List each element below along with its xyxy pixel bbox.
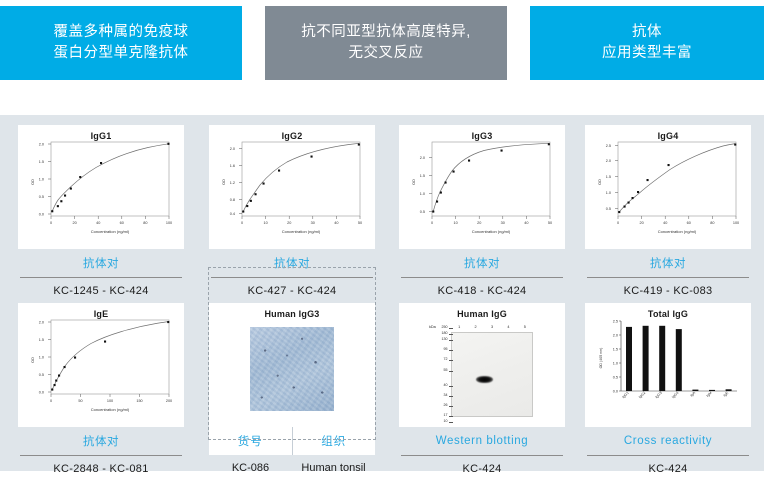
svg-text:2.5: 2.5 — [613, 320, 618, 324]
western-lane-1: 1 — [451, 325, 467, 332]
figure-title-ihc: Human IgG3 — [209, 309, 375, 319]
banner-application-line-1: 抗体 — [632, 22, 662, 43]
svg-text:2.0: 2.0 — [606, 159, 611, 163]
svg-text:40: 40 — [96, 221, 100, 225]
ladder-label-40: 40 — [444, 384, 448, 388]
ihc-value-tissue: Human tonsil — [292, 455, 375, 481]
western-ladder: 250 180 130 95 72 55 40 34 26 17 10 — [429, 325, 453, 425]
ladder-tick-icon — [449, 360, 453, 361]
svg-text:0: 0 — [617, 221, 619, 225]
figure-ige[interactable]: IgE OD 2.0 1.5 1.0 0.5 0.0 050100 — [18, 303, 184, 427]
svg-text:60: 60 — [687, 221, 691, 225]
ladder-label-26: 26 — [444, 404, 448, 408]
caption-cross-reactivity: Cross reactivity — [585, 427, 751, 455]
caption-igg2: 抗体对 — [209, 249, 375, 277]
banner-coverage-line-1: 覆盖多种属的免疫球 — [54, 22, 189, 43]
svg-text:2.0: 2.0 — [230, 147, 235, 151]
svg-text:Concentration (ng/ml): Concentration (ng/ml) — [91, 407, 130, 412]
card-ige[interactable]: IgE OD 2.0 1.5 1.0 0.5 0.0 050100 — [18, 303, 184, 482]
svg-text:80: 80 — [143, 221, 147, 225]
ladder-label-130: 130 — [442, 338, 448, 342]
svg-text:1.5: 1.5 — [613, 348, 618, 352]
svg-text:60: 60 — [120, 221, 124, 225]
svg-text:1.0: 1.0 — [420, 192, 425, 196]
western-lane-3: 3 — [484, 325, 500, 332]
ladder-row-95: 95 — [429, 343, 453, 357]
figure-igg1[interactable]: IgG1 OD 2.0 1.5 1.0 0.5 0.0 02040 — [18, 125, 184, 249]
banner-application-line-2: 应用类型丰富 — [602, 43, 692, 64]
svg-text:IgG4: IgG4 — [671, 391, 679, 399]
banner-specificity-line-1: 抗不同亚型抗体高度特异, — [301, 22, 471, 43]
svg-text:80: 80 — [710, 221, 714, 225]
western-lane-labels: 1 2 3 4 5 — [451, 325, 533, 332]
ladder-tick-icon — [449, 328, 453, 329]
figure-ihc[interactable]: Human IgG3 — [209, 303, 375, 427]
ladder-tick-icon — [449, 396, 453, 397]
svg-text:0: 0 — [241, 221, 243, 225]
svg-text:IgE: IgE — [723, 390, 730, 397]
western-lane-5: 5 — [517, 325, 533, 332]
svg-text:Concentration (ng/ml): Concentration (ng/ml) — [91, 229, 130, 234]
line-chart-igg3: OD 2.0 1.5 1.0 0.5 01020 304050 Concentr… — [399, 125, 565, 249]
line-chart-igg2: OD 2.0 1.6 1.2 0.8 0.4 01020 304050 — [209, 125, 375, 249]
svg-text:OD: OD — [597, 179, 602, 185]
line-chart-igg4: OD 2.5 2.0 1.5 1.0 0.5 02040 6080100 — [585, 125, 751, 249]
svg-text:1.0: 1.0 — [613, 362, 618, 366]
figure-title-western: Human IgG — [399, 309, 565, 319]
svg-text:1.5: 1.5 — [606, 175, 611, 179]
ladder-tick-icon — [449, 371, 453, 372]
svg-text:20: 20 — [639, 221, 643, 225]
svg-text:1.5: 1.5 — [420, 174, 425, 178]
svg-text:30: 30 — [311, 221, 315, 225]
svg-text:20: 20 — [477, 221, 481, 225]
caption-ige: 抗体对 — [18, 427, 184, 455]
card-ihc[interactable]: Human IgG3 货号 组织 KC-086 Human tonsil — [209, 303, 375, 481]
svg-text:IgG3: IgG3 — [655, 391, 663, 399]
svg-text:0.5: 0.5 — [606, 207, 611, 211]
svg-text:2.0: 2.0 — [39, 321, 44, 325]
banner-specificity-line-2: 无交叉反应 — [349, 43, 424, 64]
svg-text:1.0: 1.0 — [606, 191, 611, 195]
ladder-label-180: 180 — [442, 332, 448, 336]
catalog-igg2[interactable]: KC-427 - KC-424 — [209, 278, 375, 304]
svg-text:0.5: 0.5 — [39, 373, 44, 377]
card-igg2[interactable]: IgG2 OD 2.0 1.6 1.2 0.8 0.4 01020 — [209, 125, 375, 304]
product-card-grid: IgG1 OD 2.0 1.5 1.0 0.5 0.0 02040 — [0, 115, 764, 471]
ladder-tick-icon — [449, 386, 453, 387]
svg-text:OD: OD — [221, 179, 226, 185]
ladder-label-95: 95 — [444, 348, 448, 352]
ladder-row-40: 40 — [429, 379, 453, 393]
card-western-blotting[interactable]: Human IgG kDa 1 2 3 4 5 250 180 130 95 — [399, 303, 565, 482]
svg-text:IgG2: IgG2 — [638, 391, 646, 399]
svg-text:OD: OD — [30, 357, 35, 363]
svg-text:IgA: IgA — [689, 390, 696, 397]
card-igg1[interactable]: IgG1 OD 2.0 1.5 1.0 0.5 0.0 02040 — [18, 125, 184, 304]
svg-text:100: 100 — [733, 221, 739, 225]
card-igg4[interactable]: IgG4 OD 2.5 2.0 1.5 1.0 0.5 02040 — [585, 125, 751, 304]
caption-igg4: 抗体对 — [585, 249, 751, 277]
line-chart-ige: OD 2.0 1.5 1.0 0.5 0.0 050100 150200 — [18, 303, 184, 427]
ihc-table-row[interactable]: KC-086 Human tonsil — [209, 455, 375, 481]
western-membrane — [451, 332, 533, 417]
banner-application[interactable]: 抗体 应用类型丰富 — [530, 6, 764, 80]
catalog-igg4[interactable]: KC-419 - KC-083 — [585, 278, 751, 304]
western-blot-image: kDa 1 2 3 4 5 250 180 130 95 72 55 — [429, 325, 537, 417]
ladder-row-10: 10 — [429, 419, 453, 425]
western-band — [476, 376, 493, 383]
ihc-table-header: 货号 组织 — [209, 427, 375, 455]
figure-igg3[interactable]: IgG3 OD 2.0 1.5 1.0 0.5 01020 304050 — [399, 125, 565, 249]
bar-chart-cross-reactivity: OD (405 nm) 2.52.01.5 1.00.50.0 — [585, 303, 751, 427]
svg-text:40: 40 — [334, 221, 338, 225]
ladder-tick-icon — [449, 406, 453, 407]
figure-igg4[interactable]: IgG4 OD 2.5 2.0 1.5 1.0 0.5 02040 — [585, 125, 751, 249]
ladder-row-55: 55 — [429, 363, 453, 379]
ihc-header-catalog: 货号 — [209, 427, 292, 455]
svg-text:50: 50 — [548, 221, 552, 225]
svg-text:150: 150 — [136, 399, 142, 403]
caption-igg1: 抗体对 — [18, 249, 184, 277]
caption-igg3: 抗体对 — [399, 249, 565, 277]
svg-text:30: 30 — [501, 221, 505, 225]
banner-coverage[interactable]: 覆盖多种属的免疫球 蛋白分型单克隆抗体 — [0, 6, 242, 80]
header-banner-row: 覆盖多种属的免疫球 蛋白分型单克隆抗体 抗不同亚型抗体高度特异, 无交叉反应 抗… — [0, 0, 764, 115]
svg-text:1.5: 1.5 — [39, 160, 44, 164]
catalog-igg1[interactable]: KC-1245 - KC-424 — [18, 278, 184, 304]
svg-text:0: 0 — [431, 221, 433, 225]
svg-text:IgM: IgM — [706, 391, 713, 398]
figure-cross-reactivity[interactable]: Total IgG OD (405 nm) 2.52.01.5 1.00.50.… — [585, 303, 751, 427]
svg-text:100: 100 — [166, 221, 172, 225]
figure-western[interactable]: Human IgG kDa 1 2 3 4 5 250 180 130 95 — [399, 303, 565, 427]
svg-text:50: 50 — [358, 221, 362, 225]
svg-text:0: 0 — [50, 399, 52, 403]
svg-text:0.5: 0.5 — [420, 210, 425, 214]
svg-text:0: 0 — [50, 221, 52, 225]
caption-western: Western blotting — [399, 427, 565, 455]
western-lane-2: 2 — [467, 325, 483, 332]
svg-text:0.0: 0.0 — [613, 390, 618, 394]
ihc-header-tissue: 组织 — [292, 427, 376, 455]
svg-text:20: 20 — [287, 221, 291, 225]
svg-text:100: 100 — [107, 399, 113, 403]
svg-text:1.5: 1.5 — [39, 338, 44, 342]
svg-text:50: 50 — [78, 399, 82, 403]
svg-text:1.6: 1.6 — [230, 164, 235, 168]
svg-text:0.5: 0.5 — [613, 376, 618, 380]
catalog-cross-reactivity[interactable]: KC-424 — [585, 456, 751, 482]
card-igg3[interactable]: IgG3 OD 2.0 1.5 1.0 0.5 01020 304050 — [399, 125, 565, 304]
svg-text:2.0: 2.0 — [39, 143, 44, 147]
svg-text:2.0: 2.0 — [420, 156, 425, 160]
ladder-label-72: 72 — [444, 358, 448, 362]
svg-text:10: 10 — [263, 221, 267, 225]
ladder-label-34: 34 — [444, 394, 448, 398]
banner-coverage-line-2: 蛋白分型单克隆抗体 — [54, 43, 189, 64]
ladder-label-10: 10 — [444, 420, 448, 424]
svg-text:40: 40 — [524, 221, 528, 225]
ladder-label-55: 55 — [444, 369, 448, 373]
svg-text:OD: OD — [30, 179, 35, 185]
catalog-igg3[interactable]: KC-418 - KC-424 — [399, 278, 565, 304]
svg-text:2.5: 2.5 — [606, 144, 611, 148]
ladder-tick-icon — [449, 334, 453, 335]
catalog-ige[interactable]: KC-2848 - KC-081 — [18, 456, 184, 482]
svg-text:IgG1: IgG1 — [621, 391, 629, 399]
svg-text:2.0: 2.0 — [613, 334, 618, 338]
svg-text:OD (405 nm): OD (405 nm) — [599, 348, 603, 369]
ladder-tick-icon — [449, 350, 453, 351]
card-cross-reactivity[interactable]: Total IgG OD (405 nm) 2.52.01.5 1.00.50.… — [585, 303, 751, 482]
ladder-row-26: 26 — [429, 399, 453, 413]
svg-text:0.5: 0.5 — [39, 195, 44, 199]
svg-text:OD: OD — [411, 179, 416, 185]
svg-text:1.2: 1.2 — [230, 181, 235, 185]
svg-text:200: 200 — [166, 399, 172, 403]
svg-text:10: 10 — [453, 221, 457, 225]
svg-text:1.0: 1.0 — [39, 178, 44, 182]
svg-text:0.0: 0.0 — [39, 391, 44, 395]
svg-text:20: 20 — [72, 221, 76, 225]
svg-text:1.0: 1.0 — [39, 356, 44, 360]
svg-text:0.0: 0.0 — [39, 213, 44, 217]
catalog-western[interactable]: KC-424 — [399, 456, 565, 482]
ladder-tick-icon — [449, 422, 453, 423]
ladder-tick-icon — [449, 416, 453, 417]
line-chart-igg1: OD 2.0 1.5 1.0 0.5 0.0 02040 6080100 — [18, 125, 184, 249]
ladder-label-17: 17 — [444, 414, 448, 418]
svg-text:Concentration (ng/ml): Concentration (ng/ml) — [282, 229, 321, 234]
banner-specificity[interactable]: 抗不同亚型抗体高度特异, 无交叉反应 — [265, 6, 507, 80]
svg-text:Concentration (ng/ml): Concentration (ng/ml) — [658, 229, 697, 234]
ladder-label-250: 250 — [442, 326, 448, 330]
ihc-tissue-image — [250, 327, 334, 411]
ihc-value-catalog[interactable]: KC-086 — [209, 455, 292, 481]
svg-text:0.8: 0.8 — [230, 198, 235, 202]
svg-text:40: 40 — [663, 221, 667, 225]
ladder-tick-icon — [449, 340, 453, 341]
western-lane-4: 4 — [500, 325, 516, 332]
figure-igg2[interactable]: IgG2 OD 2.0 1.6 1.2 0.8 0.4 01020 — [209, 125, 375, 249]
svg-text:0.4: 0.4 — [230, 212, 235, 216]
svg-text:Concentration (ng/ml): Concentration (ng/ml) — [472, 229, 511, 234]
